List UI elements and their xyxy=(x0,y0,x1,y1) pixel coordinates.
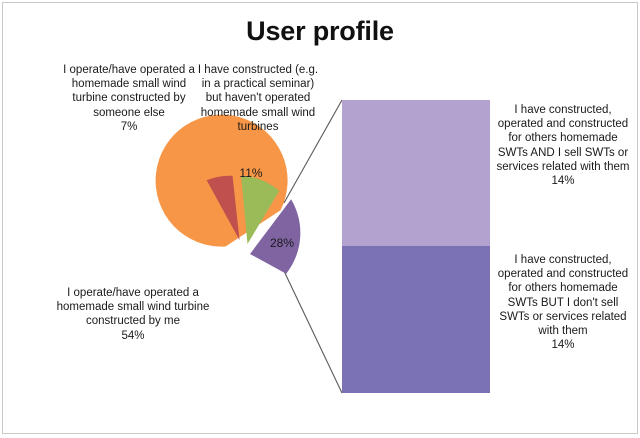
chart-frame: User profile I operate/have operat xyxy=(2,2,638,434)
pie-label-constructed-not-operated: I have constructed (e.g. in a practical … xyxy=(195,63,321,134)
pie-value-constructed-for-others: 28% xyxy=(264,236,300,250)
bar-label-sell-swts: I have constructed, operated and constru… xyxy=(492,103,634,188)
stacked-bar xyxy=(342,100,490,393)
bar-label-no-sell-swts: I have constructed, operated and constru… xyxy=(492,253,634,352)
pie-value-constructed-not-operated: 11% xyxy=(233,166,269,180)
bar-segment-no-sell-swts[interactable] xyxy=(342,246,490,393)
pie-label-constructed-by-me: I operate/have operated a homemade small… xyxy=(53,286,213,343)
bar-segment-sell-swts[interactable] xyxy=(342,100,490,246)
connector-line-bottom xyxy=(284,271,342,393)
pie-label-someone-else: I operate/have operated a homemade small… xyxy=(59,63,199,134)
